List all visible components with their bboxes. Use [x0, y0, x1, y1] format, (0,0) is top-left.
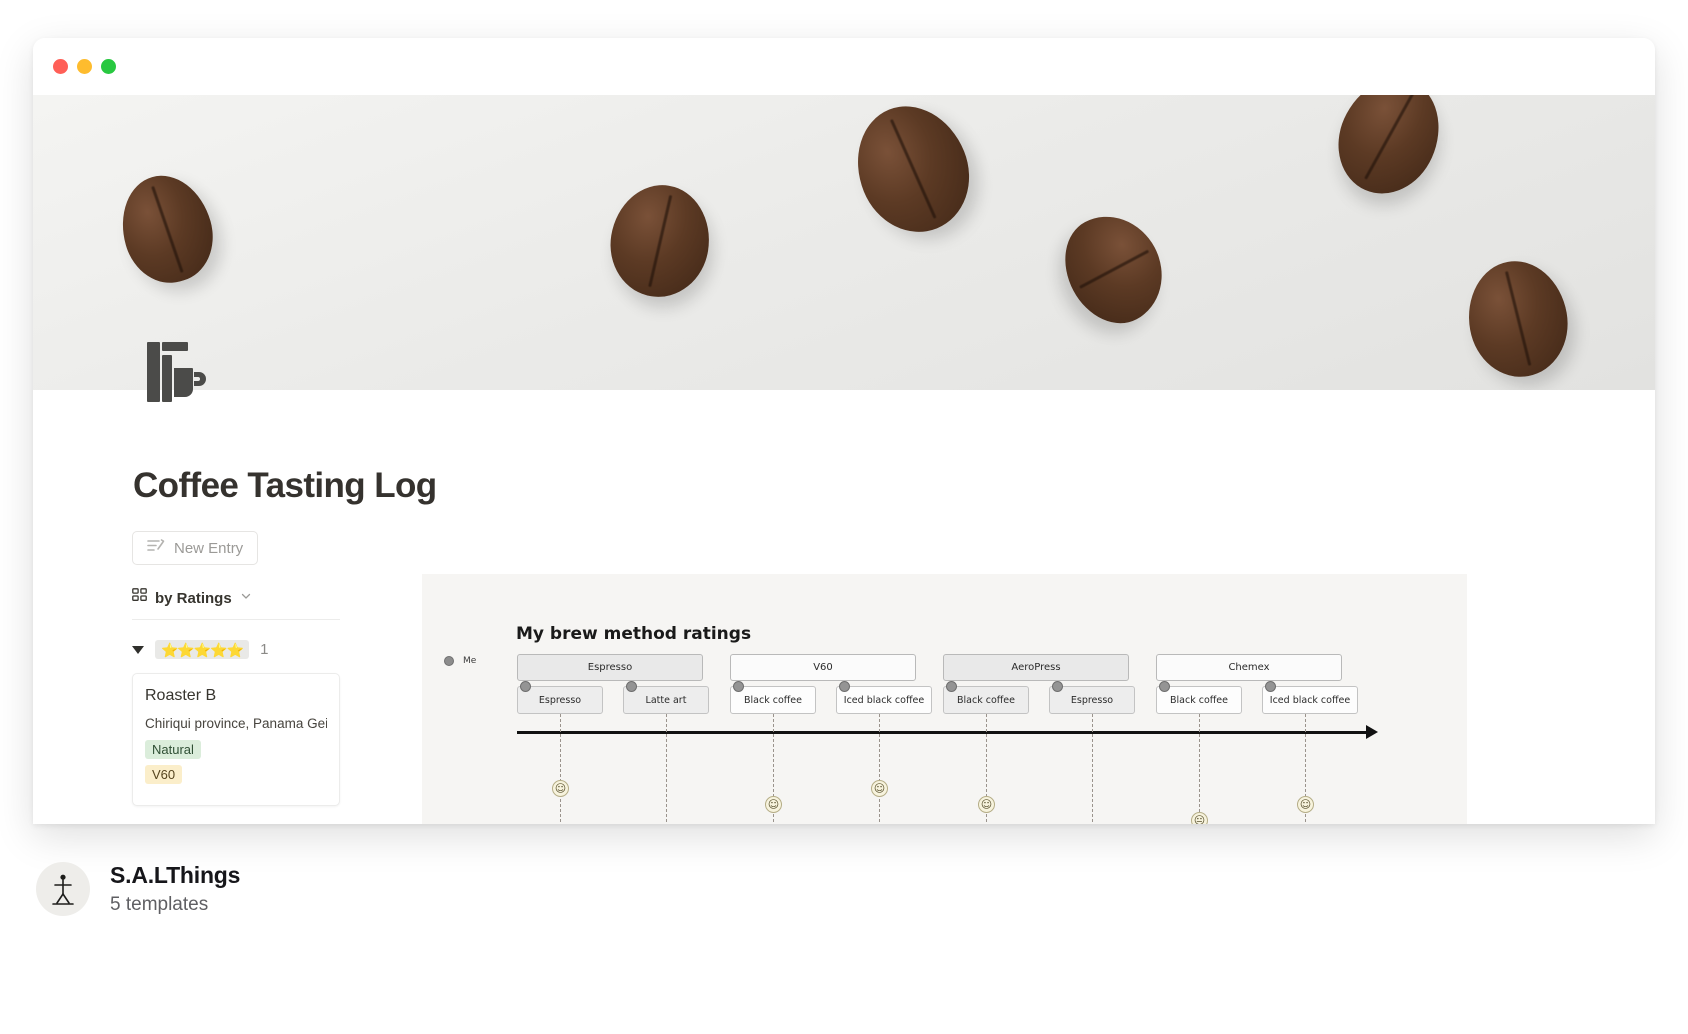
entry-card-subtitle: Chiriqui province, Panama Geisha — [145, 716, 327, 731]
coffee-bean — [1048, 199, 1181, 339]
timeline-group-box[interactable]: Espresso — [517, 654, 703, 681]
timeline-item-box[interactable]: Black coffee — [1156, 686, 1242, 714]
timeline-node-dot[interactable] — [1265, 681, 1276, 692]
timeline-node-dot[interactable] — [733, 681, 744, 692]
author-name: S.A.LThings — [110, 862, 240, 889]
collapse-caret-icon[interactable] — [132, 646, 144, 654]
timeline-item-box[interactable]: Espresso — [517, 686, 603, 714]
coffee-bean — [110, 165, 224, 293]
entry-tag-method: V60 — [145, 765, 182, 784]
entry-card-title: Roaster B — [145, 687, 327, 705]
traffic-lights — [53, 59, 116, 74]
timeline-item-box[interactable]: Iced black coffee — [1262, 686, 1358, 714]
rating-face-smile-icon[interactable]: ☺ — [765, 796, 782, 813]
timeline-node-dot[interactable] — [1052, 681, 1063, 692]
page-title: Coffee Tasting Log — [133, 466, 437, 506]
timeline-node-dot[interactable] — [946, 681, 957, 692]
timeline-group-box[interactable]: AeroPress — [943, 654, 1129, 681]
timeline-group-box[interactable]: Chemex — [1156, 654, 1342, 681]
timeline-connector — [560, 714, 561, 824]
rating-face-smile-icon[interactable]: ☺ — [552, 780, 569, 797]
timeline-node-dot[interactable] — [626, 681, 637, 692]
cover-image — [33, 95, 1655, 390]
grouped-entries-sidebar: by Ratings ⭐⭐⭐⭐⭐ 1 Roaster B Chiriqui pr… — [132, 588, 340, 824]
rating-stars: ⭐⭐⭐⭐⭐ — [155, 640, 249, 659]
timeline-connector — [1092, 714, 1093, 824]
coffee-bean — [1321, 95, 1457, 209]
timeline-item-box[interactable]: Iced black coffee — [836, 686, 932, 714]
timeline-node-dot[interactable] — [839, 681, 850, 692]
timeline-connector — [666, 714, 667, 824]
timeline-item-box[interactable]: Black coffee — [943, 686, 1029, 714]
timeline-axis-arrow-icon — [1366, 725, 1378, 739]
zoom-window-button[interactable] — [101, 59, 116, 74]
view-selector[interactable]: by Ratings — [132, 588, 340, 620]
legend-label: Me — [463, 656, 476, 666]
coffee-maker-icon[interactable] — [141, 340, 209, 404]
chevron-down-icon[interactable] — [240, 589, 252, 607]
rating-group-count: 1 — [260, 641, 268, 658]
template-author-footer: S.A.LThings 5 templates — [36, 862, 240, 916]
timeline-item-box[interactable]: Latte art — [623, 686, 709, 714]
close-window-button[interactable] — [53, 59, 68, 74]
timeline-node-dot[interactable] — [520, 681, 531, 692]
entry-card[interactable]: Roaster B Chiriqui province, Panama Geis… — [132, 673, 340, 806]
legend-swatch — [444, 656, 454, 666]
brew-timeline-panel: My brew method ratings Me Espresso V60 A… — [422, 574, 1467, 824]
avatar — [36, 862, 90, 916]
new-entry-icon — [147, 538, 165, 559]
window-titlebar — [33, 38, 1655, 95]
rating-face-smile-icon[interactable]: ☺ — [1297, 796, 1314, 813]
rating-face-smile-icon[interactable]: ☺ — [978, 796, 995, 813]
rating-face-smile-icon[interactable]: ☺ — [871, 780, 888, 797]
new-entry-label: New Entry — [174, 540, 243, 557]
chart-title: My brew method ratings — [516, 624, 751, 644]
timeline-item-box[interactable]: Black coffee — [730, 686, 816, 714]
timeline-connector — [879, 714, 880, 824]
app-window: Coffee Tasting Log New Entry — [33, 38, 1655, 824]
timeline-axis — [517, 731, 1372, 734]
coffee-bean — [1460, 253, 1577, 384]
rating-group-header[interactable]: ⭐⭐⭐⭐⭐ 1 — [132, 640, 340, 659]
new-entry-button[interactable]: New Entry — [132, 531, 258, 565]
template-count: 5 templates — [110, 894, 240, 916]
coffee-bean — [603, 178, 717, 304]
coffee-bean — [839, 95, 987, 249]
minimize-window-button[interactable] — [77, 59, 92, 74]
rating-face-neutral-icon[interactable]: 😐 — [1191, 812, 1208, 824]
chart-legend: Me — [444, 656, 476, 666]
timeline-item-box[interactable]: Espresso — [1049, 686, 1135, 714]
timeline-group-box[interactable]: V60 — [730, 654, 916, 681]
timeline-connector — [1199, 714, 1200, 824]
entry-tag-process: Natural — [145, 740, 201, 759]
view-label: by Ratings — [155, 590, 232, 607]
timeline-node-dot[interactable] — [1159, 681, 1170, 692]
gallery-grid-icon — [132, 588, 147, 608]
